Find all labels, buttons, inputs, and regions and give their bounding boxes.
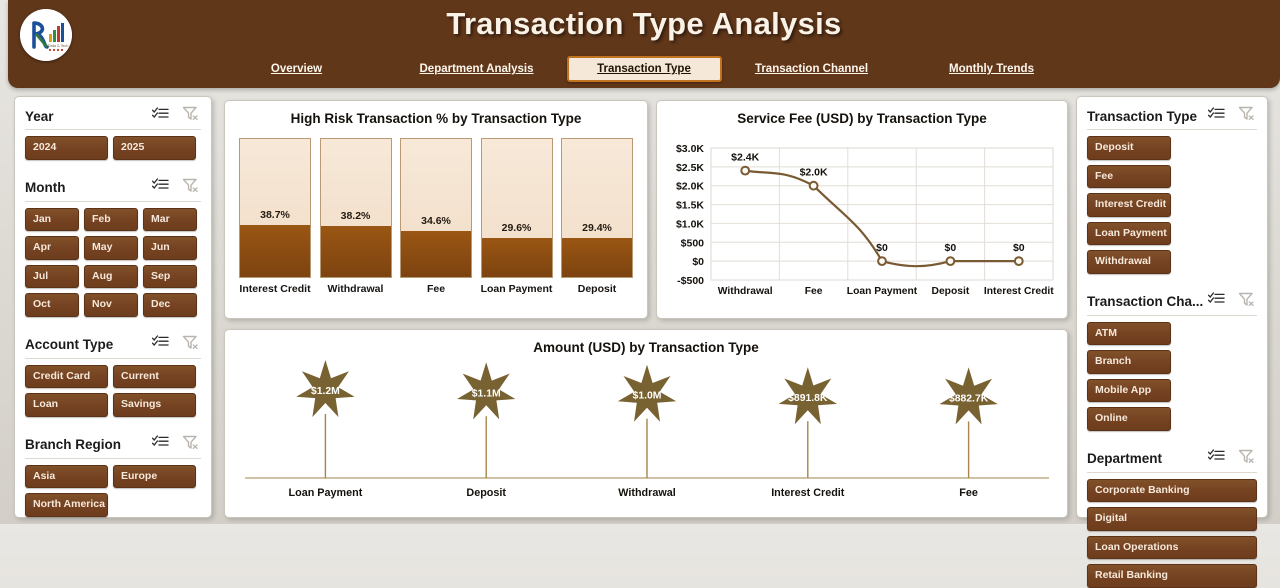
svg-text:Withdrawal: Withdrawal <box>718 286 773 297</box>
stacked-bar-3[interactable]: 29.6% <box>481 138 553 278</box>
star-chart-plot: $1.2MLoan Payment$1.1MDeposit$1.0MWithdr… <box>235 360 1057 510</box>
service-fee-line-card: Service Fee (USD) by Transaction Type $3… <box>656 100 1068 319</box>
slicer-title-department: Department <box>1087 451 1208 466</box>
nav-transaction-type[interactable]: Transaction Type <box>567 56 722 82</box>
slicer-divider <box>1087 129 1257 130</box>
slicer-option-month-4[interactable]: May <box>84 236 138 260</box>
slicer-option-transaction-type-1[interactable]: Fee <box>1087 165 1171 189</box>
bar-value-label-2: 34.6% <box>421 215 451 231</box>
slicer-option-department-0[interactable]: Corporate Banking <box>1087 479 1257 503</box>
clear-filter-icon[interactable] <box>1238 449 1255 469</box>
slicer-option-transaction-type-3[interactable]: Loan Payment <box>1087 222 1171 246</box>
multi-select-icon[interactable] <box>1208 107 1225 126</box>
star-chart-title: Amount (USD) by Transaction Type <box>225 340 1067 355</box>
svg-text:Deposit: Deposit <box>932 286 970 297</box>
svg-text:Fee: Fee <box>959 487 978 499</box>
slicer-option-transaction-type-0[interactable]: Deposit <box>1087 136 1171 160</box>
bar-segment-highrisk-3 <box>482 238 552 277</box>
bar-value-label-0: 38.7% <box>260 209 290 225</box>
slicer-options-branch-region: AsiaEuropeNorth America <box>25 465 201 517</box>
bar-segment-highrisk-4 <box>562 238 632 277</box>
main-nav: Overview Department Analysis Transaction… <box>8 56 1280 82</box>
clear-filter-icon[interactable] <box>182 106 199 126</box>
high-risk-bar-card: High Risk Transaction % by Transaction T… <box>224 100 648 319</box>
slicer-option-month-8[interactable]: Sep <box>143 265 197 289</box>
slicer-option-transaction-type-4[interactable]: Withdrawal <box>1087 250 1171 274</box>
svg-text:$2.4K: $2.4K <box>731 152 759 164</box>
stacked-bar-2[interactable]: 34.6% <box>400 138 472 278</box>
slicer-option-account-type-2[interactable]: Loan <box>25 393 108 417</box>
svg-text:$891.8K: $891.8K <box>788 393 828 404</box>
slicer-option-month-11[interactable]: Dec <box>143 293 197 317</box>
bar-column-1[interactable]: 38.2% <box>320 138 392 278</box>
multi-select-icon[interactable] <box>1208 292 1225 311</box>
slicer-option-month-1[interactable]: Feb <box>84 208 138 232</box>
bar-segment-remainder-2: 34.6% <box>401 139 471 231</box>
slicer-options-transaction-type: DepositFeeInterest CreditLoan PaymentWit… <box>1087 136 1257 274</box>
bar-chart-categories: Interest CreditWithdrawalFeeLoan Payment… <box>239 283 633 295</box>
slicer-option-transaction-channel-3[interactable]: Online <box>1087 407 1171 431</box>
nav-transaction-channel[interactable]: Transaction Channel <box>722 58 902 80</box>
svg-text:$882.7K: $882.7K <box>949 393 989 404</box>
svg-text:$2.5K: $2.5K <box>676 162 704 174</box>
slicer-header-branch-region: Branch Region <box>25 426 201 458</box>
svg-text:-$500: -$500 <box>677 275 704 287</box>
slicer-option-transaction-channel-2[interactable]: Mobile App <box>1087 379 1171 403</box>
slicer-divider <box>1087 315 1257 316</box>
multi-select-icon[interactable] <box>152 335 169 354</box>
slicer-icons-month <box>152 178 201 198</box>
bar-segment-remainder-4: 29.4% <box>562 139 632 238</box>
multi-select-icon[interactable] <box>152 178 169 197</box>
slicer-option-transaction-channel-0[interactable]: ATM <box>1087 322 1171 346</box>
slicer-option-month-0[interactable]: Jan <box>25 208 79 232</box>
bar-category-label-4: Deposit <box>561 283 633 295</box>
slicer-header-transaction-type: Transaction Type <box>1087 97 1257 129</box>
bar-segment-remainder-1: 38.2% <box>321 139 391 226</box>
bar-segment-highrisk-0 <box>240 225 310 277</box>
bar-category-label-3: Loan Payment <box>481 283 553 295</box>
line-chart-svg: $3.0K$2.5K$2.0K$1.5K$1.0K$500$0-$500$2.4… <box>665 132 1061 314</box>
slicer-title-year: Year <box>25 109 152 124</box>
nav-department-analysis[interactable]: Department Analysis <box>387 58 567 80</box>
stacked-bar-0[interactable]: 38.7% <box>239 138 311 278</box>
bar-segment-highrisk-2 <box>401 231 471 277</box>
svg-text:Data & Tech Experts: Data & Tech Experts <box>48 44 72 48</box>
bar-category-label-1: Withdrawal <box>320 283 392 295</box>
star-chart-svg: $1.2MLoan Payment$1.1MDeposit$1.0MWithdr… <box>235 360 1059 510</box>
svg-text:$0: $0 <box>692 256 704 268</box>
slicer-option-branch-region-0[interactable]: Asia <box>25 465 108 489</box>
bar-segment-highrisk-1 <box>321 226 391 277</box>
slicer-icons-department <box>1208 449 1257 469</box>
bar-value-label-1: 38.2% <box>341 210 371 226</box>
svg-text:Fee: Fee <box>805 286 823 297</box>
svg-text:Withdrawal: Withdrawal <box>618 487 676 499</box>
slicer-options-account-type: Credit CardCurrentLoanSavings <box>25 365 201 417</box>
svg-text:$0: $0 <box>945 242 957 254</box>
slicer-option-transaction-type-2[interactable]: Interest Credit <box>1087 193 1171 217</box>
slicer-header-transaction-channel: Transaction Cha... <box>1087 283 1257 315</box>
clear-filter-icon[interactable] <box>1238 106 1255 126</box>
svg-text:$3.0K: $3.0K <box>676 143 704 155</box>
line-chart-title: Service Fee (USD) by Transaction Type <box>657 101 1067 126</box>
svg-text:$0: $0 <box>876 242 888 254</box>
svg-text:Interest Credit: Interest Credit <box>771 487 845 499</box>
multi-select-icon[interactable] <box>1208 449 1225 468</box>
svg-text:$2.0K: $2.0K <box>676 181 704 193</box>
svg-text:$1.1M: $1.1M <box>472 388 501 399</box>
slicer-icons-transaction-type <box>1208 106 1257 126</box>
slicer-option-account-type-0[interactable]: Credit Card <box>25 365 108 389</box>
svg-text:$0: $0 <box>1013 242 1025 254</box>
slicer-option-month-5[interactable]: Jun <box>143 236 197 260</box>
bar-column-3[interactable]: 29.6% <box>481 138 553 278</box>
slicer-header-department: Department <box>1087 440 1257 472</box>
slicer-divider <box>25 458 201 459</box>
slicer-icons-branch-region <box>152 435 201 455</box>
slicer-divider <box>25 358 201 359</box>
slicer-title-transaction-type: Transaction Type <box>1087 109 1208 124</box>
clear-filter-icon[interactable] <box>182 435 199 455</box>
bar-column-0[interactable]: 38.7% <box>239 138 311 278</box>
svg-text:Deposit: Deposit <box>466 487 506 499</box>
bar-segment-remainder-3: 29.6% <box>482 139 552 238</box>
slicer-option-department-1[interactable]: Digital <box>1087 507 1257 531</box>
slicer-title-transaction-channel: Transaction Cha... <box>1087 294 1208 309</box>
slicer-title-account-type: Account Type <box>25 337 152 352</box>
slicer-option-month-7[interactable]: Aug <box>84 265 138 289</box>
clear-filter-icon[interactable] <box>1238 292 1255 312</box>
page-title: Transaction Type Analysis <box>8 6 1280 42</box>
multi-select-icon[interactable] <box>152 107 169 126</box>
slicer-option-department-2[interactable]: Loan Operations <box>1087 536 1257 560</box>
nav-overview[interactable]: Overview <box>207 58 387 80</box>
slicer-header-month: Month <box>25 169 201 201</box>
slicer-options-department: Corporate BankingDigitalLoan OperationsR… <box>1087 479 1257 588</box>
svg-text:$1.5K: $1.5K <box>676 200 704 212</box>
slicer-option-month-2[interactable]: Mar <box>143 208 197 232</box>
slicer-icons-year <box>152 106 201 126</box>
line-chart-plot: $3.0K$2.5K$2.0K$1.5K$1.0K$500$0-$500$2.4… <box>665 132 1059 312</box>
slicer-option-account-type-1[interactable]: Current <box>113 365 196 389</box>
slicer-option-year-0[interactable]: 2024 <box>25 136 108 160</box>
app-header: Data & Tech Experts Transaction Type Ana… <box>8 0 1280 88</box>
slicer-options-year: 20242025 <box>25 136 201 160</box>
stacked-bar-4[interactable]: 29.4% <box>561 138 633 278</box>
clear-filter-icon[interactable] <box>182 178 199 198</box>
nav-monthly-trends[interactable]: Monthly Trends <box>902 58 1082 80</box>
bar-value-label-4: 29.4% <box>582 222 612 238</box>
slicer-header-year: Year <box>25 97 201 129</box>
slicer-header-account-type: Account Type <box>25 326 201 358</box>
slicer-option-month-10[interactable]: Nov <box>84 293 138 317</box>
left-filter-panel: Year 20242025Month JanFebMarAprMayJunJul… <box>14 96 212 518</box>
svg-text:$2.0K: $2.0K <box>800 167 828 179</box>
slicer-option-transaction-channel-1[interactable]: Branch <box>1087 350 1171 374</box>
slicer-option-account-type-3[interactable]: Savings <box>113 393 196 417</box>
slicer-option-branch-region-1[interactable]: Europe <box>113 465 196 489</box>
svg-text:Loan Payment: Loan Payment <box>847 286 918 297</box>
slicer-icons-transaction-channel <box>1208 292 1257 312</box>
svg-text:$1.0K: $1.0K <box>676 218 704 230</box>
slicer-options-transaction-channel: ATMBranchMobile AppOnline <box>1087 322 1257 431</box>
slicer-option-month-3[interactable]: Apr <box>25 236 79 260</box>
bar-value-label-3: 29.6% <box>502 222 532 238</box>
slicer-divider <box>25 201 201 202</box>
bar-category-label-2: Fee <box>400 283 472 295</box>
right-filter-panel: Transaction Type DepositFeeInterest Cred… <box>1076 96 1268 518</box>
svg-text:$1.0M: $1.0M <box>633 391 662 402</box>
slicer-option-branch-region-2[interactable]: North America <box>25 493 108 517</box>
svg-text:$500: $500 <box>681 237 705 249</box>
slicer-option-month-6[interactable]: Jul <box>25 265 79 289</box>
slicer-option-month-9[interactable]: Oct <box>25 293 79 317</box>
multi-select-icon[interactable] <box>152 435 169 454</box>
slicer-divider <box>25 129 201 130</box>
slicer-divider <box>1087 472 1257 473</box>
bar-column-2[interactable]: 34.6% <box>400 138 472 278</box>
svg-text:Loan Payment: Loan Payment <box>289 487 363 499</box>
slicer-option-department-3[interactable]: Retail Banking <box>1087 564 1257 588</box>
bar-segment-remainder-0: 38.7% <box>240 139 310 225</box>
clear-filter-icon[interactable] <box>182 335 199 355</box>
slicer-option-year-1[interactable]: 2025 <box>113 136 196 160</box>
slicer-title-branch-region: Branch Region <box>25 437 152 452</box>
bar-chart-title: High Risk Transaction % by Transaction T… <box>225 101 647 126</box>
bar-category-label-0: Interest Credit <box>239 283 311 295</box>
bar-chart-plot: 38.7% 38.2% 34.6% 29.6% <box>239 138 633 278</box>
svg-text:Interest Credit: Interest Credit <box>984 286 1054 297</box>
amount-star-card: Amount (USD) by Transaction Type $1.2MLo… <box>224 329 1068 518</box>
slicer-icons-account-type <box>152 335 201 355</box>
slicer-options-month: JanFebMarAprMayJunJulAugSepOctNovDec <box>25 208 201 317</box>
slicer-title-month: Month <box>25 180 152 195</box>
stacked-bar-1[interactable]: 38.2% <box>320 138 392 278</box>
bar-column-4[interactable]: 29.4% <box>561 138 633 278</box>
svg-text:$1.2M: $1.2M <box>311 386 340 397</box>
